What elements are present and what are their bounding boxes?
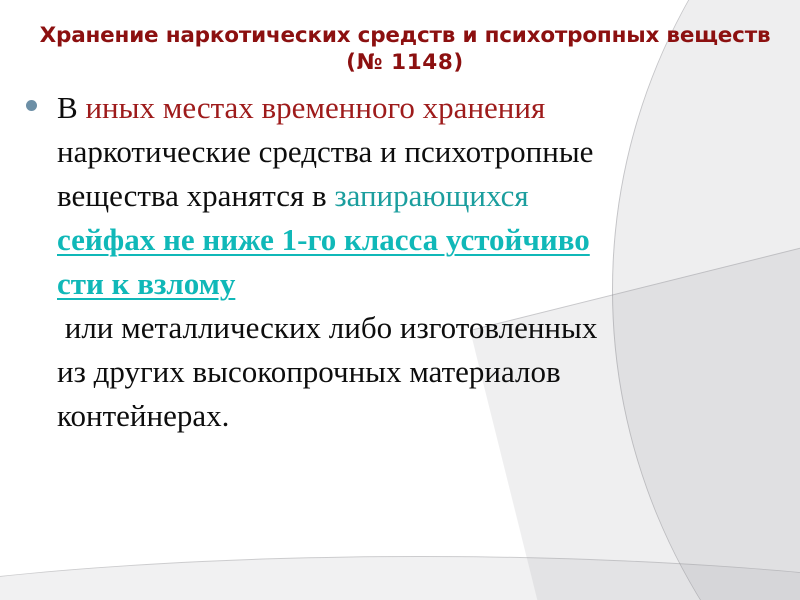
text-run-black: В (57, 90, 85, 125)
text-line-6: или металлических либо изготовленных (57, 306, 786, 350)
text-line-3: вещества хранятся в запирающихся (57, 174, 786, 218)
text-run-teal-strong: сейфах не ниже 1-го класса устойчиво (57, 222, 590, 257)
bullet-list-item: В иных местах временного хранениянаркоти… (26, 86, 786, 438)
text-line-8: контейнерах. (57, 394, 786, 438)
bottom-curve-shape (0, 556, 800, 600)
text-run-black: наркотические средства и психотропные (57, 134, 593, 169)
text-line-7: из других высокопрочных материалов (57, 350, 786, 394)
slide-title: Хранение наркотических средств и психотр… (10, 22, 800, 76)
text-line-5: сти к взлому (57, 262, 786, 306)
text-run-black: или металлических либо изготовленных (57, 310, 597, 345)
text-run-black: контейнерах. (57, 398, 229, 433)
slide-title-line-1: Хранение наркотических средств и психотр… (10, 22, 800, 49)
text-run-black: вещества хранятся в (57, 178, 334, 213)
slide-body: В иных местах временного хранениянаркоти… (26, 86, 786, 438)
bullet-dot-icon (26, 100, 37, 111)
text-run-red: иных местах временного хранения (85, 90, 545, 125)
text-line-1: В иных местах временного хранения (57, 86, 786, 130)
text-line-2: наркотические средства и психотропные (57, 130, 786, 174)
text-run-black: из других высокопрочных материалов (57, 354, 561, 389)
text-line-4: сейфах не ниже 1-го класса устойчиво (57, 218, 786, 262)
presentation-slide: Хранение наркотических средств и психотр… (0, 0, 800, 600)
bullet-paragraph: В иных местах временного хранениянаркоти… (57, 86, 786, 438)
text-run-teal-strong: сти к взлому (57, 266, 235, 301)
slide-title-line-2: (№ 1148) (10, 49, 800, 76)
text-run-teal: запирающихся (334, 178, 528, 213)
